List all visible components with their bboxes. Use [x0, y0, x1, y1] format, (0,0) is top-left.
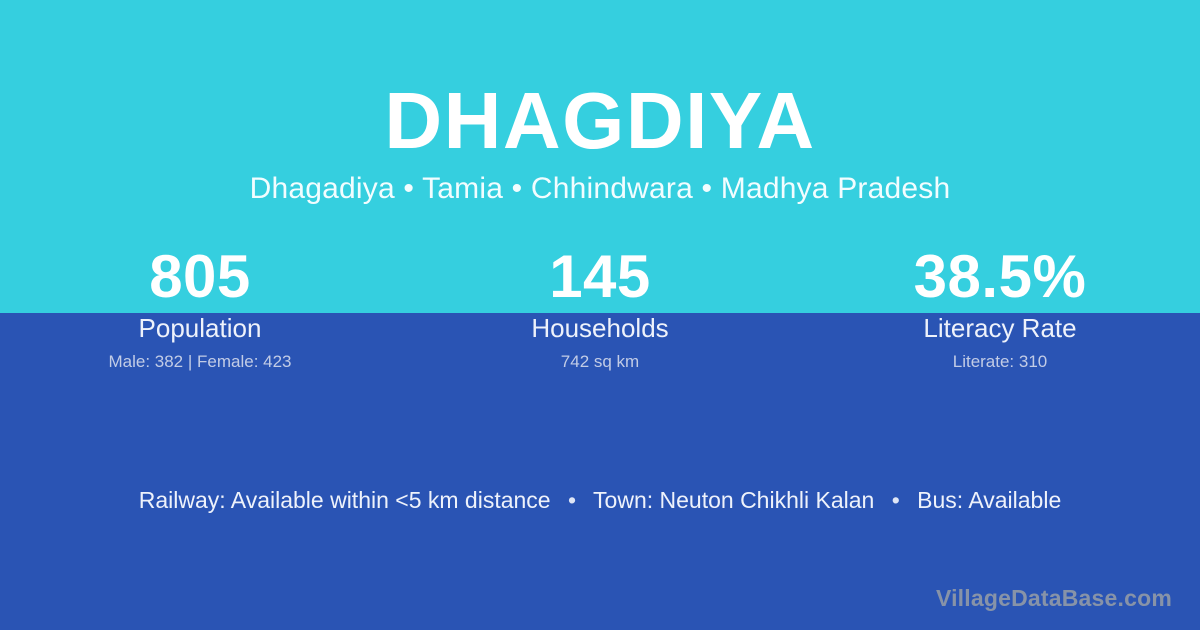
stat-literacy-rate: 38.5% Literacy Rate Literate: 310	[800, 244, 1200, 373]
stat-population: 805 Population Male: 382 | Female: 423	[0, 244, 400, 373]
page-title: DHAGDIYA	[0, 0, 1200, 164]
village-info-card: DHAGDIYA Dhagadiya • Tamia • Chhindwara …	[0, 0, 1200, 630]
card-header: DHAGDIYA Dhagadiya • Tamia • Chhindwara …	[0, 0, 1200, 208]
stat-sublabel: Male: 382 | Female: 423	[0, 351, 400, 373]
stat-value: 38.5%	[800, 244, 1200, 310]
facility-bus: Bus: Available	[917, 487, 1061, 513]
facility-town: Town: Neuton Chikhli Kalan	[593, 487, 874, 513]
breadcrumb: Dhagadiya • Tamia • Chhindwara • Madhya …	[0, 164, 1200, 208]
stat-value: 805	[0, 244, 400, 310]
stat-sublabel: 742 sq km	[400, 351, 800, 373]
stat-households: 145 Households 742 sq km	[400, 244, 800, 373]
stat-value: 145	[400, 244, 800, 310]
facilities-row: Railway: Available within <5 km distance…	[0, 484, 1200, 516]
site-watermark: VillageDataBase.com	[936, 584, 1172, 612]
facility-railway: Railway: Available within <5 km distance	[139, 487, 551, 513]
stats-row: 805 Population Male: 382 | Female: 423 1…	[0, 244, 1200, 373]
bullet-separator-icon: •	[557, 487, 587, 513]
bullet-separator-icon: •	[881, 487, 911, 513]
stat-sublabel: Literate: 310	[800, 351, 1200, 373]
stat-label: Literacy Rate	[800, 312, 1200, 344]
stat-label: Population	[0, 312, 400, 344]
stat-label: Households	[400, 312, 800, 344]
